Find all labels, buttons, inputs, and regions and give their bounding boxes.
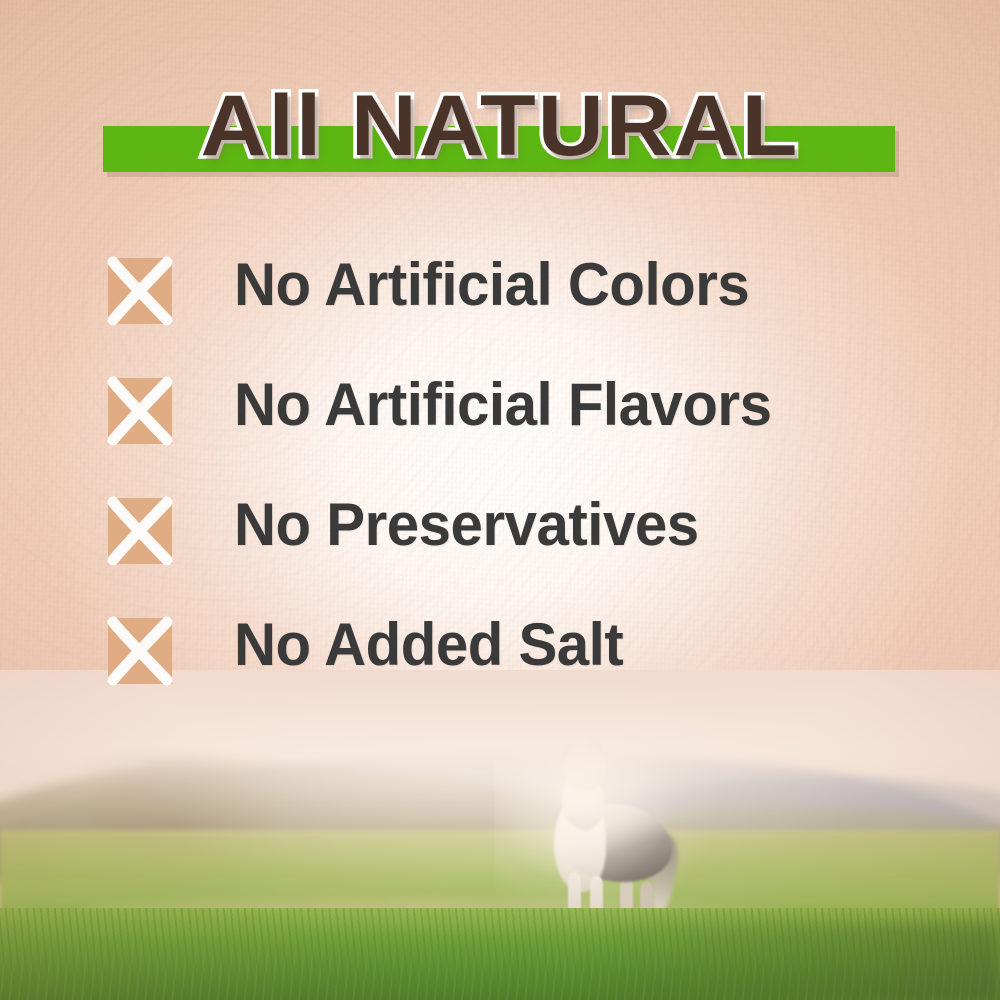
- x-mark-icon: [108, 618, 172, 684]
- headline-title: All NATURAL: [0, 78, 1000, 174]
- claim-label: No Artificial Flavors: [234, 370, 771, 440]
- claim-label: No Artificial Colors: [234, 250, 749, 320]
- all-natural-claims-panel: All NATURAL No Artificial Colors No Arti…: [0, 0, 1000, 1000]
- claim-row: No Added Salt: [108, 618, 908, 738]
- headline-banner: All NATURAL: [0, 78, 1000, 194]
- claim-label: No Preservatives: [234, 490, 699, 560]
- x-mark-icon: [108, 378, 172, 444]
- claim-row: No Preservatives: [108, 498, 908, 618]
- claim-row: No Artificial Flavors: [108, 378, 908, 498]
- claim-row: No Artificial Colors: [108, 258, 908, 378]
- x-mark-icon: [108, 258, 172, 324]
- claims-list: No Artificial Colors No Artificial Flavo…: [108, 258, 908, 738]
- x-mark-icon: [108, 498, 172, 564]
- claim-label: No Added Salt: [234, 610, 623, 680]
